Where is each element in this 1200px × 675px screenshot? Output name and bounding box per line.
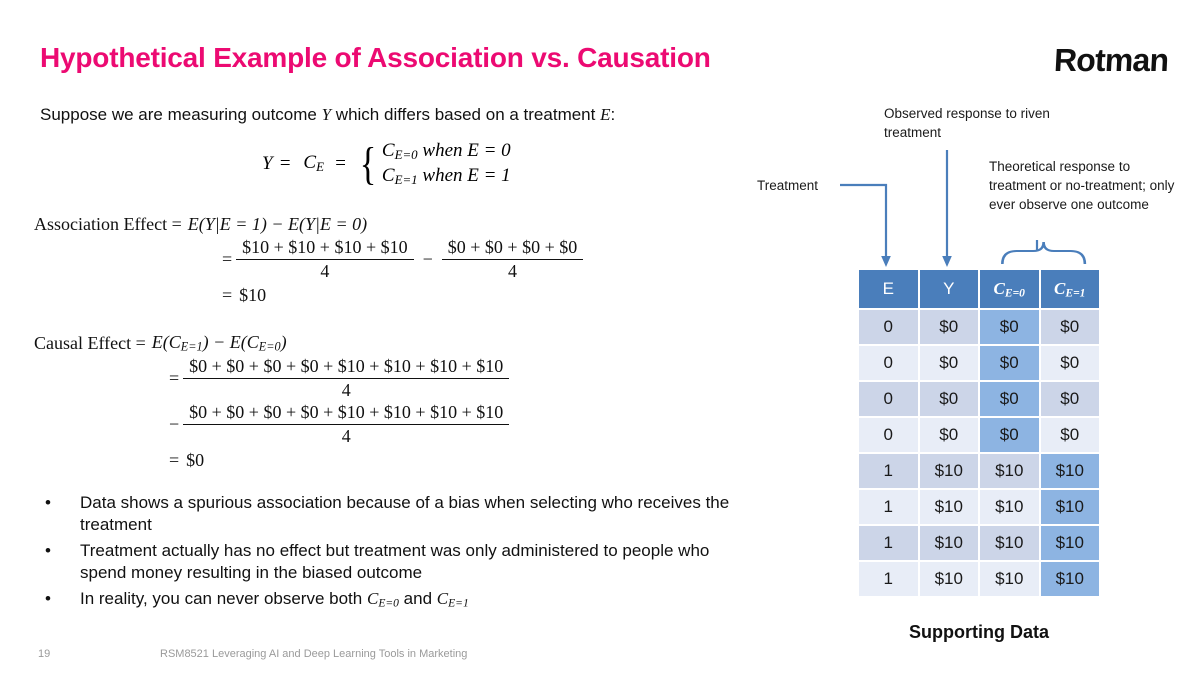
- causal-result: $0: [186, 450, 204, 471]
- cell-c-e0: $0: [980, 382, 1039, 416]
- column-header-e: E: [859, 270, 918, 308]
- table-caption: Supporting Data: [857, 622, 1101, 643]
- bullet-marker-icon: •: [40, 588, 80, 611]
- causal-fraction-2: $0 + $0 + $0 + $0 + $10 + $10 + $10 + $1…: [183, 402, 509, 447]
- left-brace-icon: {: [360, 144, 377, 184]
- cell-c-e1: $0: [1041, 346, 1100, 380]
- treatment-arrow-icon: [840, 185, 891, 267]
- table-row: 1$10$10$10: [859, 562, 1099, 596]
- column-header-c-e0: CE=0: [980, 270, 1039, 308]
- cell-y: $10: [920, 454, 979, 488]
- causal-frac2-denominator: 4: [183, 424, 509, 447]
- piecewise-equals-1: =: [279, 153, 292, 175]
- table-row: 1$10$10$10: [859, 454, 1099, 488]
- annotation-observed-response: Observed response to riven treatment: [884, 104, 1059, 142]
- causal-line-1: Causal Effect = E(CE=1) − E(CE=0): [34, 332, 513, 355]
- rotman-logo: Rotman: [1053, 42, 1169, 79]
- causal-minus: −: [169, 414, 179, 435]
- bullet-list: • Data shows a spurious association beca…: [40, 492, 750, 614]
- piecewise-c: CE: [303, 152, 324, 175]
- annotation-treatment: Treatment: [757, 176, 847, 195]
- cell-c-e1: $10: [1041, 454, 1100, 488]
- bullet-marker-icon: •: [40, 492, 80, 537]
- cell-e: 0: [859, 310, 918, 344]
- piecewise-case-1: CE=0 when E = 0: [382, 140, 511, 163]
- table-row: 1$10$10$10: [859, 526, 1099, 560]
- table-row: 0$0$0$0: [859, 346, 1099, 380]
- table-header: E Y CE=0 CE=1: [859, 270, 1099, 308]
- list-item: • Treatment actually has no effect but t…: [40, 540, 750, 585]
- association-equals: =: [222, 249, 232, 270]
- cell-e: 1: [859, 454, 918, 488]
- association-result-equals: =: [222, 285, 232, 306]
- causal-equals: =: [169, 368, 179, 389]
- page-number: 19: [38, 648, 50, 660]
- piecewise-cases: CE=0 when E = 0 CE=1 when E = 1: [382, 140, 511, 188]
- table-row: 0$0$0$0: [859, 418, 1099, 452]
- cell-c-e1: $10: [1041, 562, 1100, 596]
- intro-var-e: E: [600, 105, 610, 124]
- cell-y: $10: [920, 490, 979, 524]
- association-fraction-1: $10 + $10 + $10 + $10 4: [236, 237, 413, 282]
- annotation-theoretical-response: Theoretical response to treatment or no-…: [989, 157, 1189, 214]
- cell-e: 0: [859, 418, 918, 452]
- piecewise-case-2: CE=1 when E = 1: [382, 165, 511, 188]
- association-expectation: E(Y|E = 1) − E(Y|E = 0): [188, 214, 367, 235]
- causal-frac1-denominator: 4: [183, 378, 509, 401]
- intro-var-y: Y: [322, 105, 331, 124]
- slide-canvas: Hypothetical Example of Association vs. …: [0, 0, 1200, 675]
- piecewise-y: Y: [262, 153, 273, 175]
- cell-y: $0: [920, 382, 979, 416]
- association-frac1-denominator: 4: [236, 259, 413, 282]
- cell-y: $0: [920, 310, 979, 344]
- cell-c-e0: $0: [980, 346, 1039, 380]
- causal-frac2-numerator: $0 + $0 + $0 + $0 + $10 + $10 + $10 + $1…: [183, 402, 509, 424]
- bullet-text-2: Treatment actually has no effect but tre…: [80, 540, 750, 585]
- association-line-3: = $10: [34, 285, 587, 306]
- footer-course-title: RSM8521 Leveraging AI and Deep Learning …: [160, 648, 467, 660]
- causal-line-2: = $0 + $0 + $0 + $0 + $10 + $10 + $10 + …: [34, 356, 513, 401]
- bullet-text-3: In reality, you can never observe both C…: [80, 588, 750, 611]
- cell-e: 0: [859, 382, 918, 416]
- list-item: • Data shows a spurious association beca…: [40, 492, 750, 537]
- cell-y: $0: [920, 418, 979, 452]
- bullet-marker-icon: •: [40, 540, 80, 585]
- intro-text-mid: which differs based on a treatment: [331, 105, 600, 124]
- association-frac2-numerator: $0 + $0 + $0 + $0: [442, 237, 583, 259]
- association-frac1-numerator: $10 + $10 + $10 + $10: [236, 237, 413, 259]
- causal-line-3: − $0 + $0 + $0 + $0 + $10 + $10 + $10 + …: [34, 402, 513, 447]
- cell-e: 0: [859, 346, 918, 380]
- cell-c-e1: $10: [1041, 526, 1100, 560]
- causal-effect-equation: Causal Effect = E(CE=1) − E(CE=0) = $0 +…: [34, 332, 513, 471]
- intro-sentence: Suppose we are measuring outcome Y which…: [40, 105, 615, 125]
- table-header-row: E Y CE=0 CE=1: [859, 270, 1099, 308]
- association-label: Association Effect =: [34, 214, 182, 235]
- cell-e: 1: [859, 526, 918, 560]
- association-line-1: Association Effect = E(Y|E = 1) − E(Y|E …: [34, 214, 587, 235]
- cell-c-e0: $10: [980, 562, 1039, 596]
- cell-e: 1: [859, 490, 918, 524]
- observed-response-arrow-icon: [942, 150, 952, 267]
- cell-c-e1: $0: [1041, 418, 1100, 452]
- causal-line-4: = $0: [34, 450, 513, 471]
- association-effect-equation: Association Effect = E(Y|E = 1) − E(Y|E …: [34, 214, 587, 306]
- cell-c-e1: $0: [1041, 310, 1100, 344]
- cell-c-e0: $10: [980, 454, 1039, 488]
- table-row: 1$10$10$10: [859, 490, 1099, 524]
- association-frac2-denominator: 4: [442, 259, 583, 282]
- association-result: $10: [239, 285, 266, 306]
- association-line-2: = $10 + $10 + $10 + $10 4 − $0 + $0 + $0…: [34, 237, 587, 282]
- theoretical-response-bracket-icon: [1002, 240, 1085, 264]
- causal-label: Causal Effect =: [34, 333, 146, 354]
- supporting-data-table: E Y CE=0 CE=1 0$0$0$00$0$0$00$0$0$00$0$0…: [857, 268, 1101, 598]
- association-minus: −: [423, 249, 433, 270]
- cell-c-e0: $0: [980, 310, 1039, 344]
- intro-text-pre: Suppose we are measuring outcome: [40, 105, 322, 124]
- list-item: • In reality, you can never observe both…: [40, 588, 750, 611]
- table-body: 0$0$0$00$0$0$00$0$0$00$0$0$01$10$10$101$…: [859, 310, 1099, 596]
- cell-y: $10: [920, 562, 979, 596]
- causal-fraction-1: $0 + $0 + $0 + $0 + $10 + $10 + $10 + $1…: [183, 356, 509, 401]
- cell-y: $10: [920, 526, 979, 560]
- cell-c-e1: $10: [1041, 490, 1100, 524]
- column-header-c-e1: CE=1: [1041, 270, 1100, 308]
- cell-y: $0: [920, 346, 979, 380]
- causal-frac1-numerator: $0 + $0 + $0 + $0 + $10 + $10 + $10 + $1…: [183, 356, 509, 378]
- table-row: 0$0$0$0: [859, 310, 1099, 344]
- intro-text-post: :: [610, 105, 615, 124]
- piecewise-definition: Y = CE = { CE=0 when E = 0 CE=1 when E =…: [262, 140, 511, 188]
- cell-e: 1: [859, 562, 918, 596]
- bullet-text-1: Data shows a spurious association becaus…: [80, 492, 750, 537]
- cell-c-e1: $0: [1041, 382, 1100, 416]
- cell-c-e0: $10: [980, 490, 1039, 524]
- page-title: Hypothetical Example of Association vs. …: [40, 42, 711, 74]
- table-row: 0$0$0$0: [859, 382, 1099, 416]
- cell-c-e0: $10: [980, 526, 1039, 560]
- column-header-y: Y: [920, 270, 979, 308]
- association-fraction-2: $0 + $0 + $0 + $0 4: [442, 237, 583, 282]
- causal-expectation: E(CE=1) − E(CE=0): [152, 332, 287, 355]
- causal-result-equals: =: [169, 450, 179, 471]
- piecewise-equals-2: =: [334, 153, 347, 175]
- cell-c-e0: $0: [980, 418, 1039, 452]
